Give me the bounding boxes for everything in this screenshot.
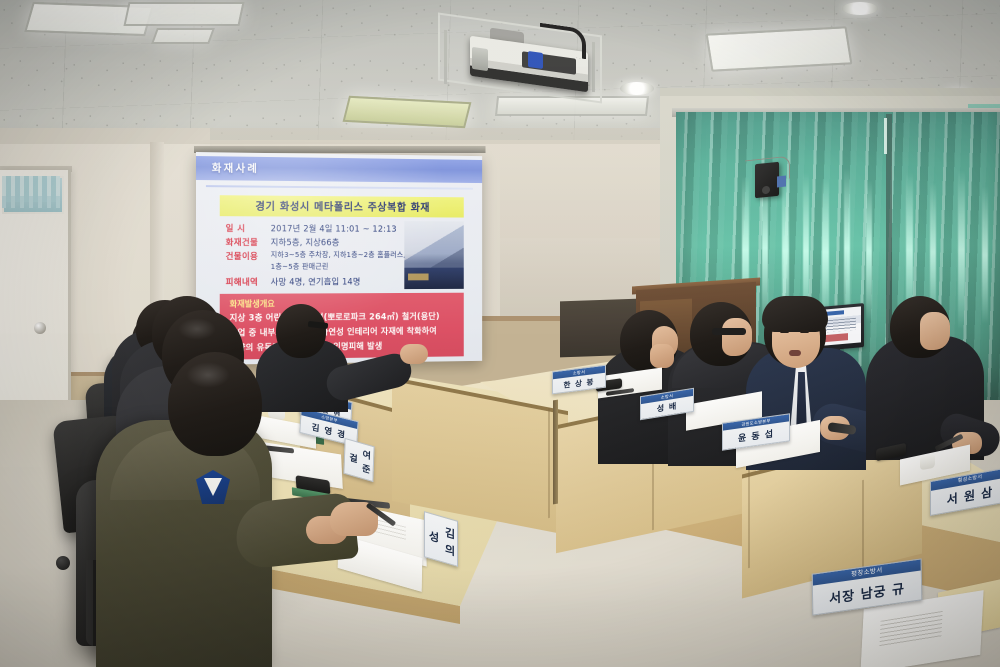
attendee-face <box>722 318 752 356</box>
slide-row-label: 화재건물 <box>226 236 271 248</box>
slide-row-label: 피해내역 <box>226 276 271 288</box>
mouth <box>789 350 801 356</box>
ceiling-light-icon <box>151 28 215 44</box>
panel-seam <box>748 456 750 568</box>
slide-row-value: 2017년 2월 4일 11:01 ~ 12:13 <box>271 222 397 234</box>
slide-banner-text: 경기 화성시 메타폴리스 주상복합 화재 <box>255 198 430 214</box>
curtain-backlight <box>866 180 872 322</box>
slide-red-line: 작업 중 내부스티로폼 등 가연성 인테리어 자재에 착화하여 <box>230 325 437 339</box>
slide-info-row: 건물이용 지하3~5층 주차장, 지하1층~2층 홈플러스, <box>226 250 406 262</box>
downlight-icon <box>620 82 654 95</box>
slide-row-label: 건물이용 <box>226 250 271 262</box>
attendee-face <box>920 312 950 350</box>
slide-info-row: 일 시 2017년 2월 4일 11:01 ~ 12:13 <box>226 222 397 235</box>
curtain-backlight <box>958 170 965 330</box>
attendee-head <box>276 304 326 358</box>
attendee-hand <box>650 344 674 368</box>
door-curtain-scallop <box>2 196 60 208</box>
nameplate: 김 의 성 <box>424 511 458 567</box>
slide-row-value: 1층~5층 판매근린 <box>271 262 329 272</box>
slide-title: 화재사례 <box>212 160 259 176</box>
wall-upper-trim <box>0 128 700 144</box>
nameplate-rank: 서장 <box>829 585 855 608</box>
table-leg <box>553 400 558 505</box>
ceiling-light-icon <box>706 26 853 71</box>
slide-row-label: 일 시 <box>226 222 271 234</box>
slide-red-heading: 화재발생개요 <box>230 298 275 310</box>
projector-mount-arm <box>592 42 595 92</box>
slide-row-value: 지하3~5층 주차장, 지하1층~2층 홈플러스, <box>271 250 406 260</box>
slide-info-row: 피해내역 사망 4명, 연기흡입 14명 <box>226 276 361 288</box>
hair-highlight <box>178 318 216 340</box>
nameplate-person-name: 남궁 규 <box>860 578 905 603</box>
slide-divider <box>206 185 473 190</box>
projector-mount-arm <box>444 30 447 84</box>
slide-info-row-cont: 1층~5층 판매근린 <box>271 262 329 272</box>
eye <box>800 330 809 333</box>
chair-caster <box>56 556 70 570</box>
doorknob-icon[interactable] <box>34 322 46 334</box>
curtain-light-slit <box>884 118 887 154</box>
speaker-bracket <box>777 176 786 188</box>
eye <box>780 330 789 333</box>
hair-highlight <box>186 362 230 388</box>
curtain-backlight <box>822 178 829 326</box>
nameplate-name: 김 의 성 <box>425 512 457 565</box>
projector-vga-port <box>528 51 543 69</box>
speaker-person-hair <box>762 296 828 332</box>
curtain-backlight <box>982 186 988 324</box>
panel-seam <box>548 408 550 518</box>
downlight-icon <box>842 2 878 15</box>
projector-lens <box>472 47 488 71</box>
nameplate-name: 여 준 걸 <box>344 439 373 481</box>
slide-yellow-banner: 경기 화성시 메타폴리스 주상복합 화재 <box>220 195 464 217</box>
slide-row-value: 사망 4명, 연기흡입 14명 <box>271 276 361 288</box>
slide-red-line: 지상 3층 어린이 놀이시설(뽀로로파크 264㎡) 철거(용단) <box>230 310 440 323</box>
attendee-hand <box>400 344 428 364</box>
slide-photo-detail <box>408 274 429 281</box>
conference-room-photo: 화재사례 경기 화성시 메타폴리스 주상복합 화재 일 시 2017년 2월 4… <box>0 0 1000 667</box>
attendee-glasses <box>712 328 746 335</box>
slide-info-row: 화재건물 지하5층, 지상66층 <box>226 236 340 248</box>
slide-row-value: 지하5층, 지상66층 <box>271 236 340 248</box>
ceiling-light-icon <box>123 2 244 26</box>
